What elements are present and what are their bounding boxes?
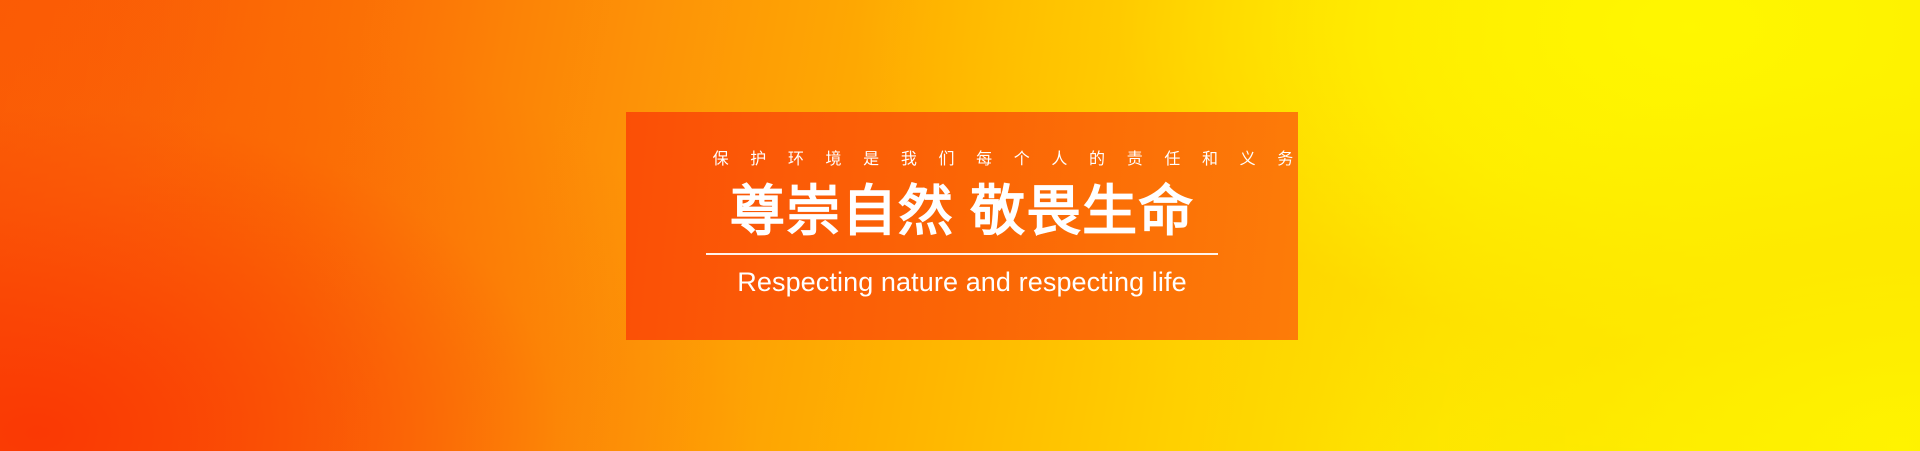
slogan-panel-content: 保 护 环 境 是 我 们 每 个 人 的 责 任 和 义 务 尊崇自然 敬畏生… [626, 112, 1298, 340]
slogan-panel: 保 护 环 境 是 我 们 每 个 人 的 责 任 和 义 务 尊崇自然 敬畏生… [626, 112, 1298, 340]
subline-text: Respecting nature and respecting life [704, 264, 1220, 300]
promo-banner: 保 护 环 境 是 我 们 每 个 人 的 责 任 和 义 务 尊崇自然 敬畏生… [0, 0, 1920, 451]
divider-rule [706, 253, 1218, 255]
eyebrow-text: 保 护 环 境 是 我 们 每 个 人 的 责 任 和 义 务 [704, 150, 1220, 170]
headline-text: 尊崇自然 敬畏生命 [704, 180, 1220, 242]
